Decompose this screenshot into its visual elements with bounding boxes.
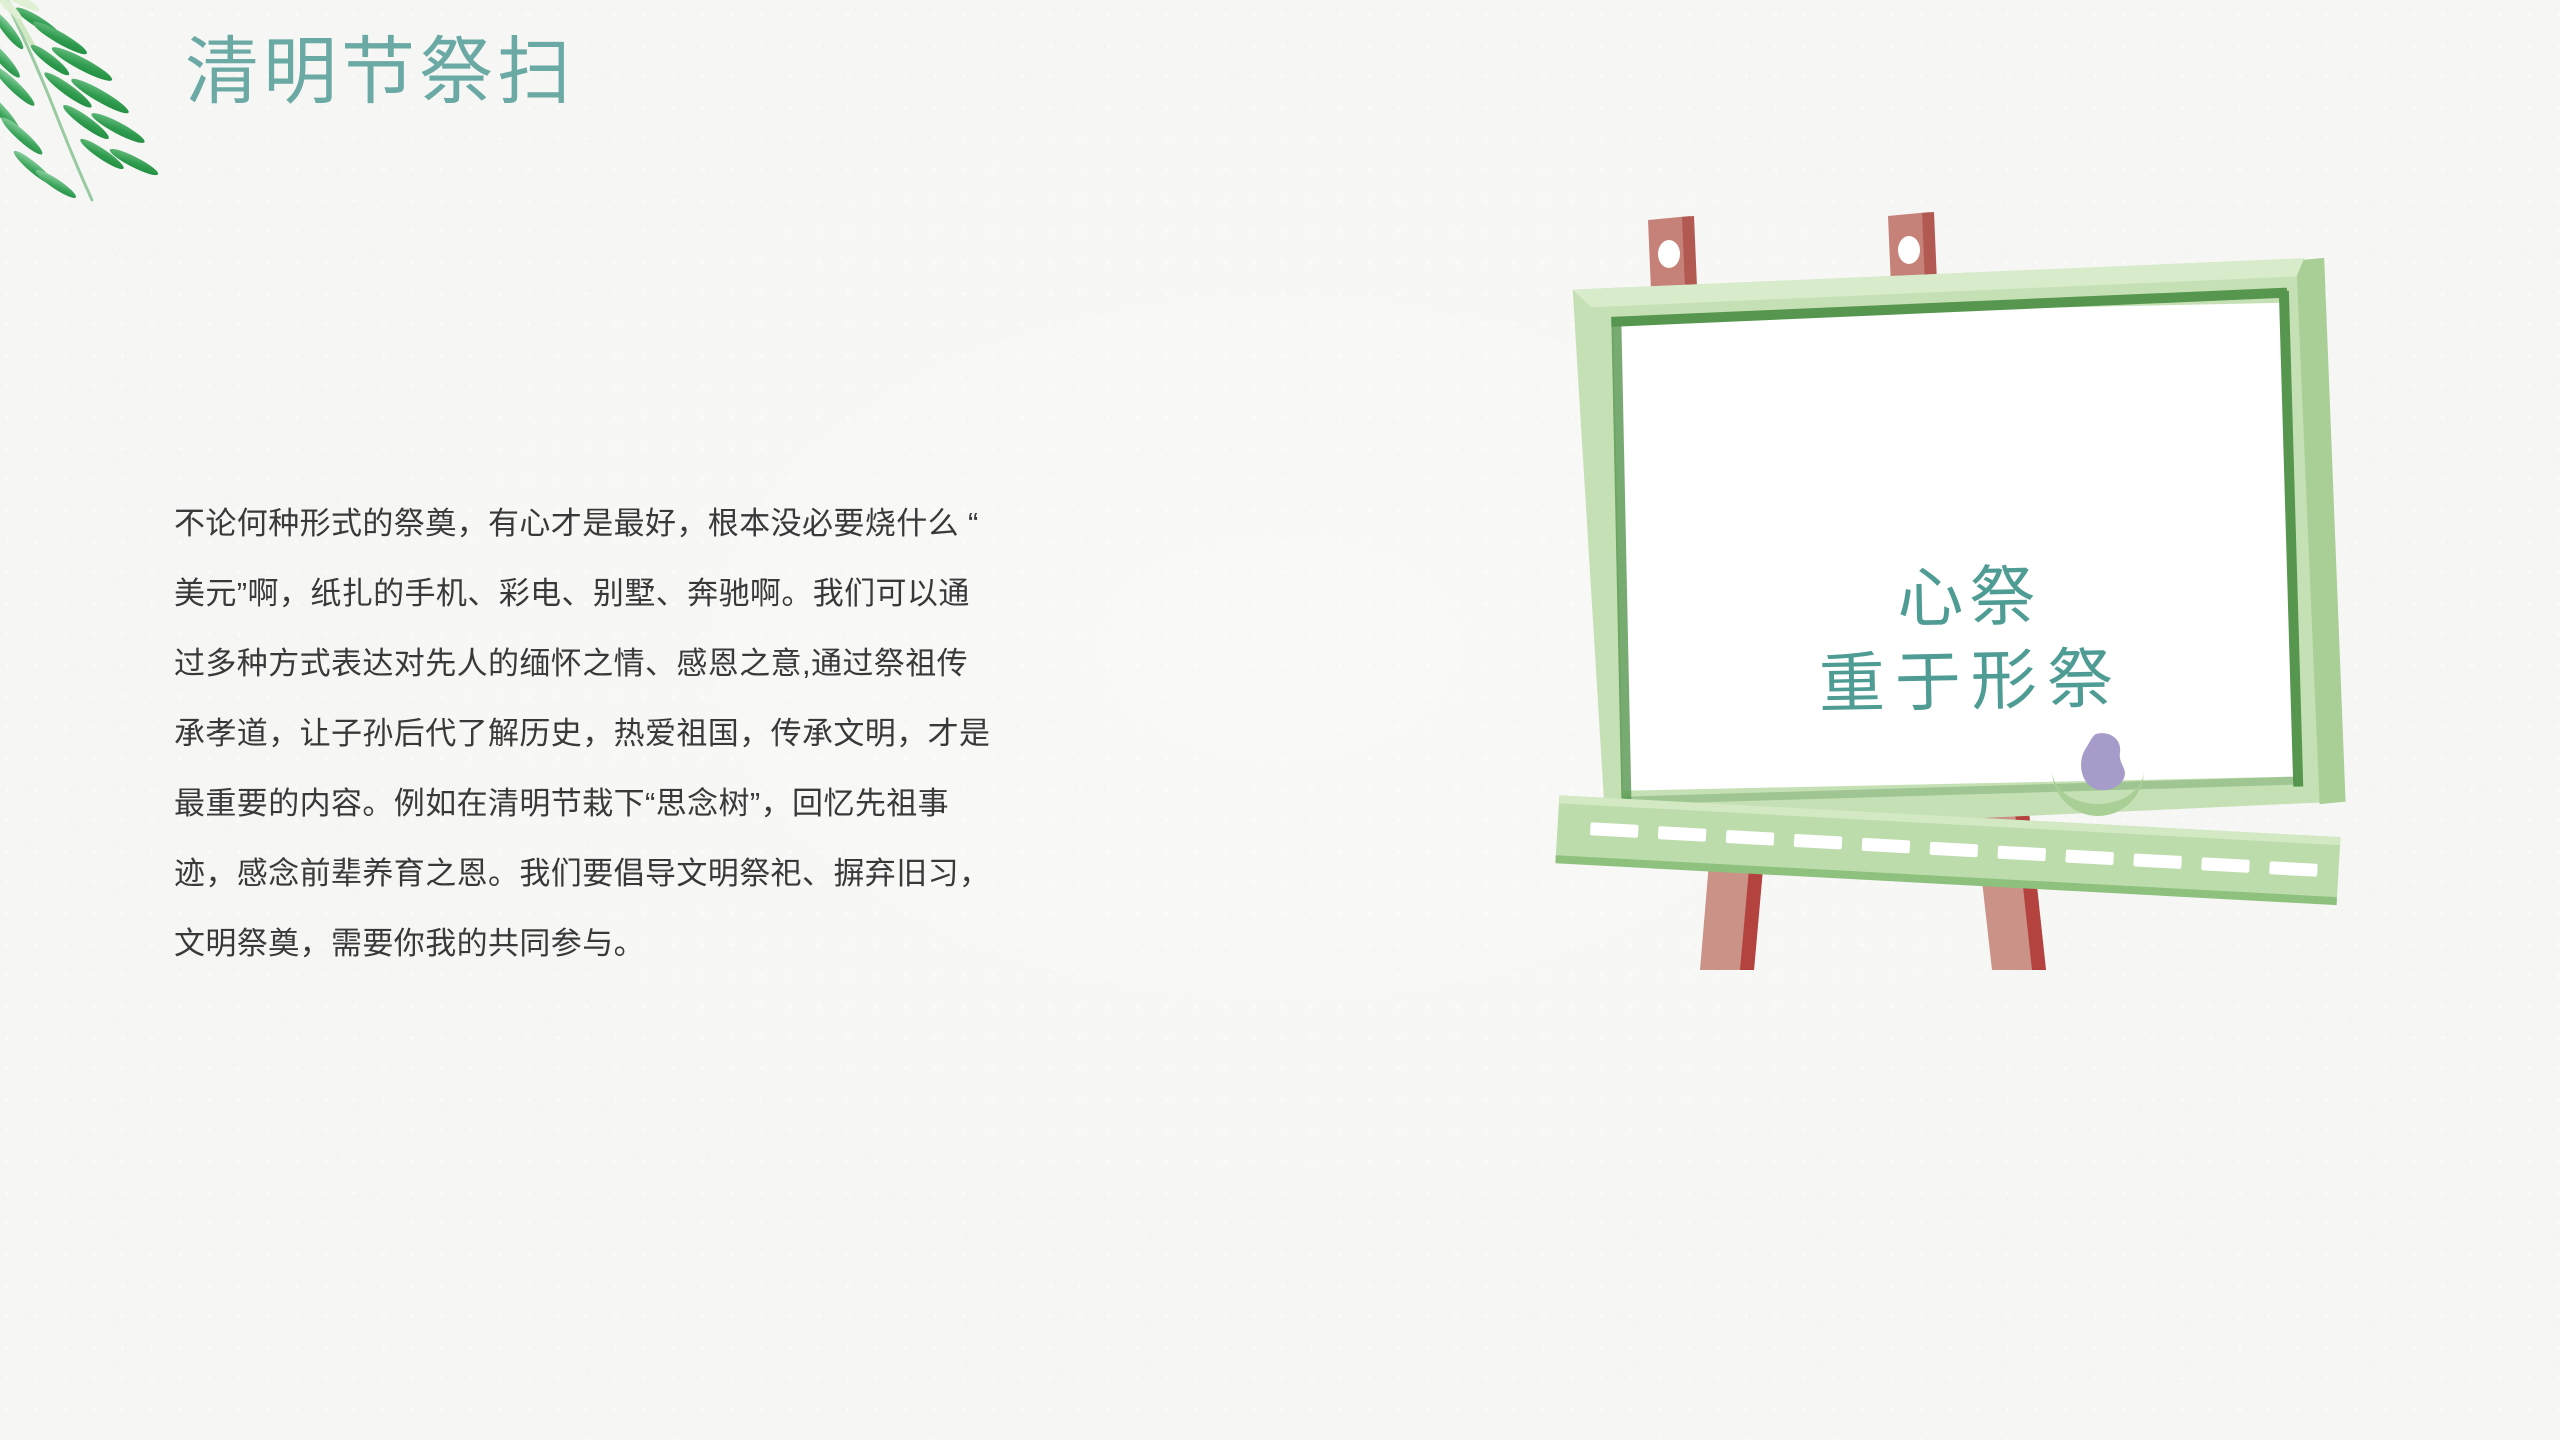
body-line: 过多种方式表达对先人的缅怀之情、感恩之意,通过祭祖传 — [174, 629, 874, 699]
easel-board — [1572, 258, 2346, 836]
board-text: 心祭 重于形祭 — [1738, 551, 2201, 728]
body-line: 文明祭奠，需要你我的共同参与。 — [174, 909, 874, 979]
board-line-2: 重于形祭 — [1740, 635, 2202, 728]
body-line: 迹，感念前辈养育之恩。我们要倡导文明祭祀、摒弃旧习， — [174, 839, 874, 909]
page-title: 清明节祭扫 — [185, 32, 575, 112]
body-line: 承孝道，让子孙后代了解历史，热爱祖国，传承文明，才是 — [174, 699, 874, 769]
board-line-1: 心祭 — [1738, 551, 2200, 644]
body-line: 不论何种形式的祭奠，有心才是最好，根本没必要烧什么 “ — [174, 489, 874, 559]
body-line: 最重要的内容。例如在清明节栽下“思念树”，回忆先祖事 — [174, 769, 874, 839]
body-line: 美元”啊，纸扎的手机、彩电、别墅、奔驰啊。我们可以通 — [174, 559, 874, 629]
body-paragraph: 不论何种形式的祭奠，有心才是最好，根本没必要烧什么 “ 美元”啊，纸扎的手机、彩… — [174, 489, 874, 979]
